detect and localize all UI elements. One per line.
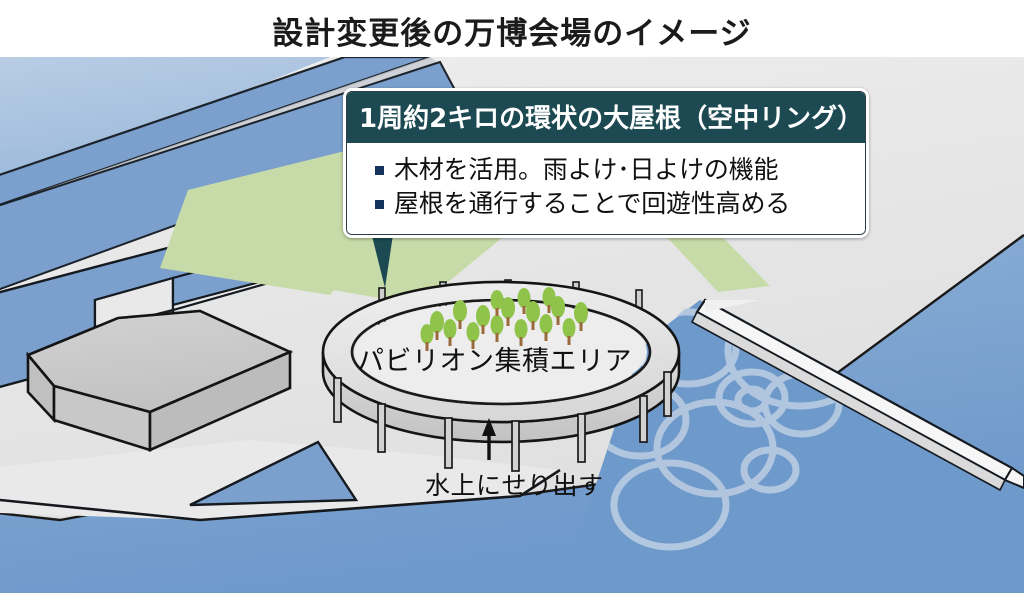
callout-header: 1周約2キロの環状の大屋根（空中リング） — [347, 92, 865, 143]
callout-bullet-2: 屋根を通行することで回遊性高める — [375, 189, 855, 218]
title-band: 設計変更後の万博会場のイメージ — [0, 0, 1024, 57]
callout-bullet-2-text: 屋根を通行することで回遊性高める — [394, 189, 790, 218]
page-title: 設計変更後の万博会場のイメージ — [0, 8, 1024, 53]
callout-box: 1周約2キロの環状の大屋根（空中リング） 木材を活用。雨よけ･日よけの機能 屋根… — [343, 88, 869, 238]
callout-body: 木材を活用。雨よけ･日よけの機能 屋根を通行することで回遊性高める — [347, 143, 865, 234]
expo-site-diagram: 設計変更後の万博会場のイメージ パビリオン集積エリア 水上にせり出す 1周約2キ… — [0, 0, 1024, 593]
callout-bullet-1-text: 木材を活用。雨よけ･日よけの機能 — [394, 155, 778, 184]
callout-inner-frame: 1周約2キロの環状の大屋根（空中リング） 木材を活用。雨よけ･日よけの機能 屋根… — [346, 91, 866, 235]
callout-bullet-1: 木材を活用。雨よけ･日よけの機能 — [375, 155, 855, 184]
ring-inner-ground — [355, 302, 647, 402]
bullet-square-icon — [375, 166, 384, 175]
bullet-square-icon — [375, 200, 384, 209]
